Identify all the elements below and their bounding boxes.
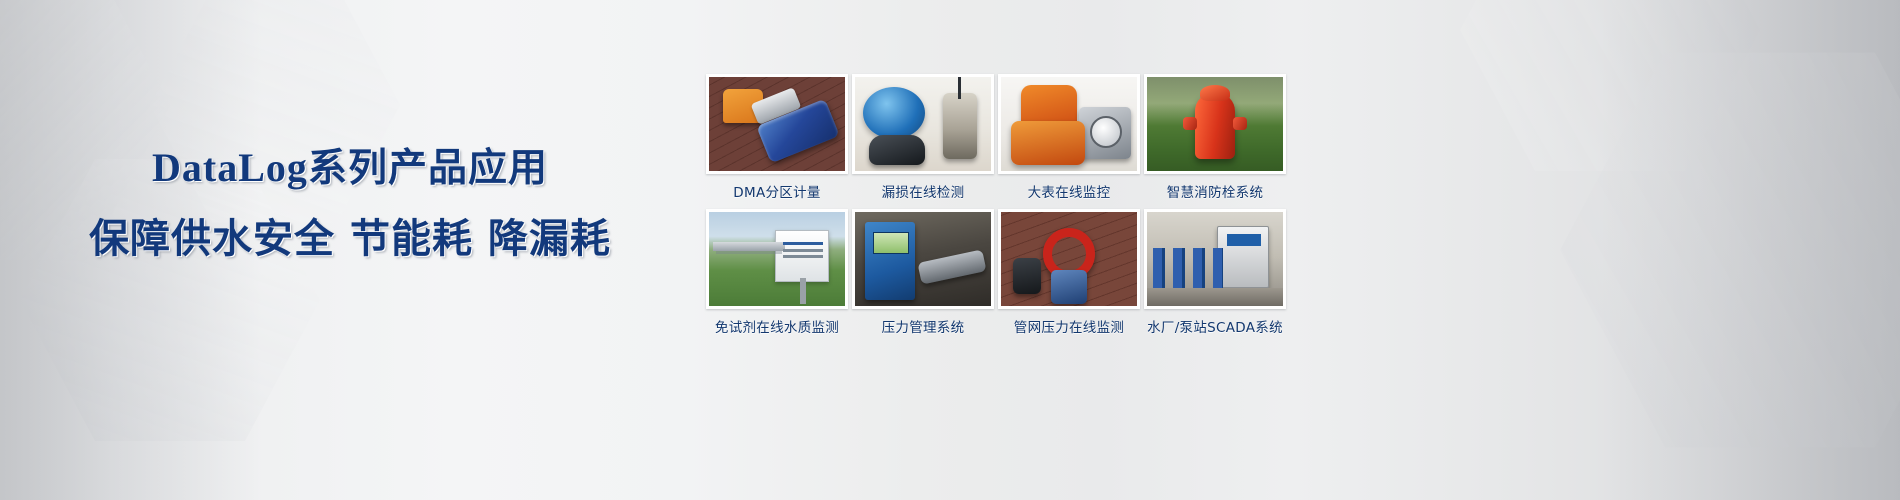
headline-line-2: 保障供水安全 节能耗 降漏耗	[0, 219, 700, 259]
headline-line-1: DataLog系列产品应用	[0, 148, 700, 188]
headline-block: DataLog系列产品应用 保障供水安全 节能耗 降漏耗	[0, 148, 700, 259]
card-caption: DMA分区计量	[706, 181, 848, 201]
right-edge-shading	[1600, 0, 1900, 500]
hydrant-outlet-right-shape	[1233, 117, 1247, 130]
card-thumbnail-large-meter[interactable]	[998, 74, 1140, 174]
bridge-shape	[713, 242, 785, 251]
card-caption: 大表在线监控	[998, 181, 1140, 201]
pressure-logger-shape	[1013, 258, 1041, 294]
card-caption: 免试剂在线水质监测	[706, 316, 848, 336]
red-fire-hydrant-photo	[1147, 77, 1283, 171]
card-thumbnail-smart-hydrant[interactable]	[1144, 74, 1286, 174]
application-card[interactable]: 压力管理系统	[852, 209, 994, 336]
application-card[interactable]: 漏损在线检测	[852, 74, 994, 201]
logger-device-shape	[943, 93, 977, 159]
floor-shape	[1147, 288, 1283, 306]
card-thumbnail-network-pressure[interactable]	[998, 209, 1140, 309]
card-caption: 智慧消防栓系统	[1144, 181, 1286, 201]
card-thumbnail-scada[interactable]	[1144, 209, 1286, 309]
headline-brand: DataLog	[152, 145, 308, 190]
card-caption: 压力管理系统	[852, 316, 994, 336]
card-thumbnail-dma-metering[interactable]	[706, 74, 848, 174]
antenna-shape	[958, 75, 961, 99]
meter-body-shape	[751, 87, 802, 125]
orange-large-meter-photo	[1001, 77, 1137, 171]
pipe-shape	[917, 249, 986, 284]
card-thumbnail-pressure-management[interactable]	[852, 209, 994, 309]
pressure-control-cabinet-photo	[855, 212, 991, 306]
card-thumbnail-leak-detection[interactable]	[852, 74, 994, 174]
hydrant-outlet-left-shape	[1183, 117, 1197, 130]
application-card[interactable]: 管网压力在线监测	[998, 209, 1140, 336]
meter-dial-shape	[1079, 107, 1131, 159]
red-handwheel-valve-photo	[1001, 212, 1137, 306]
application-card[interactable]: 大表在线监控	[998, 74, 1140, 201]
water-meter-on-brick-photo	[709, 77, 845, 171]
card-thumbnail-water-quality[interactable]	[706, 209, 848, 309]
pump-station-scada-photo	[1147, 212, 1283, 306]
water-quality-station-photo	[709, 212, 845, 306]
application-card[interactable]: DMA分区计量	[706, 74, 848, 201]
card-caption: 漏损在线检测	[852, 181, 994, 201]
sign-text-shape	[783, 242, 823, 245]
card-caption: 水厂/泵站SCADA系统	[1144, 316, 1286, 336]
application-card[interactable]: 智慧消防栓系统	[1144, 74, 1286, 201]
application-card-grid: DMA分区计量 漏损在线检测 大表在线监控	[706, 74, 1286, 336]
application-card[interactable]: 免试剂在线水质监测	[706, 209, 848, 336]
promo-banner: DataLog系列产品应用 保障供水安全 节能耗 降漏耗 DMA分区计量 漏损在…	[0, 0, 1900, 500]
headline-line-1-cjk: 系列产品应用	[308, 146, 548, 191]
card-caption: 管网压力在线监测	[998, 316, 1140, 336]
leak-logger-device-photo	[855, 77, 991, 171]
application-card[interactable]: 水厂/泵站SCADA系统	[1144, 209, 1286, 336]
